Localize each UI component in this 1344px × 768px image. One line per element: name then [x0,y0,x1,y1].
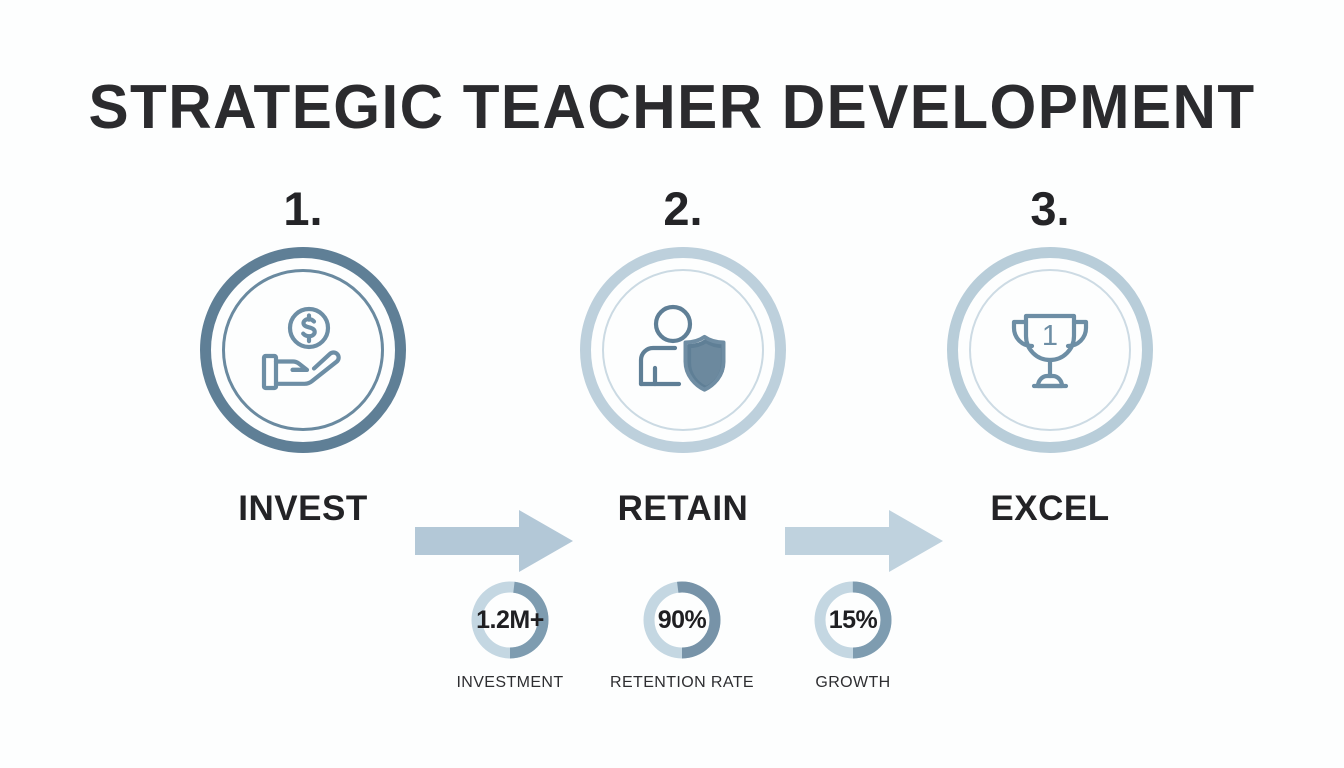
hand-holding-dollar-icon [248,295,358,405]
donut-growth: 15% [811,578,895,662]
step-number-1: 1. [193,180,413,238]
step-number-3: 3. [940,180,1160,238]
donut-investment: 1.2M+ [468,578,552,662]
step-label-2: RETAIN [573,489,793,529]
stat-label-investment: INVESTMENT [420,674,600,692]
step-label-1: INVEST [193,489,413,529]
stat-retention-rate[interactable]: 90% RETENTION RATE [592,578,772,692]
step-circle-3[interactable]: 1 [947,247,1153,453]
stat-investment[interactable]: 1.2M+ INVESTMENT [420,578,600,692]
stat-label-growth: GROWTH [763,674,943,692]
trophy-rank-text: 1 [1042,320,1058,352]
step-circle-1[interactable] [200,247,406,453]
donut-value-growth: 15% [811,578,895,662]
stat-growth[interactable]: 15% GROWTH [763,578,943,692]
step-invest[interactable]: 1. INVEST [193,180,413,529]
donut-value-investment: 1.2M+ [468,578,552,662]
stat-label-retention-rate: RETENTION RATE [592,674,772,692]
person-shield-icon [628,295,738,405]
trophy-icon: 1 [995,295,1105,405]
arrow-retain-to-excel [785,510,943,572]
donut-value-retention-rate: 90% [640,578,724,662]
infographic-canvas: STRATEGIC TEACHER DEVELOPMENT 1. [0,0,1344,768]
step-retain[interactable]: 2. RETAIN [573,180,793,529]
step-circle-2[interactable] [580,247,786,453]
steps-row: 1. INVEST [0,180,1344,540]
step-number-2: 2. [573,180,793,238]
page-title: STRATEGIC TEACHER DEVELOPMENT [20,72,1324,143]
step-label-3: EXCEL [940,489,1160,529]
arrow-invest-to-retain [415,510,573,572]
step-excel[interactable]: 3. 1 EXCEL [940,180,1160,529]
stats-row: 1.2M+ INVESTMENT 90% RETENTION RATE 15% [0,578,1344,708]
donut-retention-rate: 90% [640,578,724,662]
